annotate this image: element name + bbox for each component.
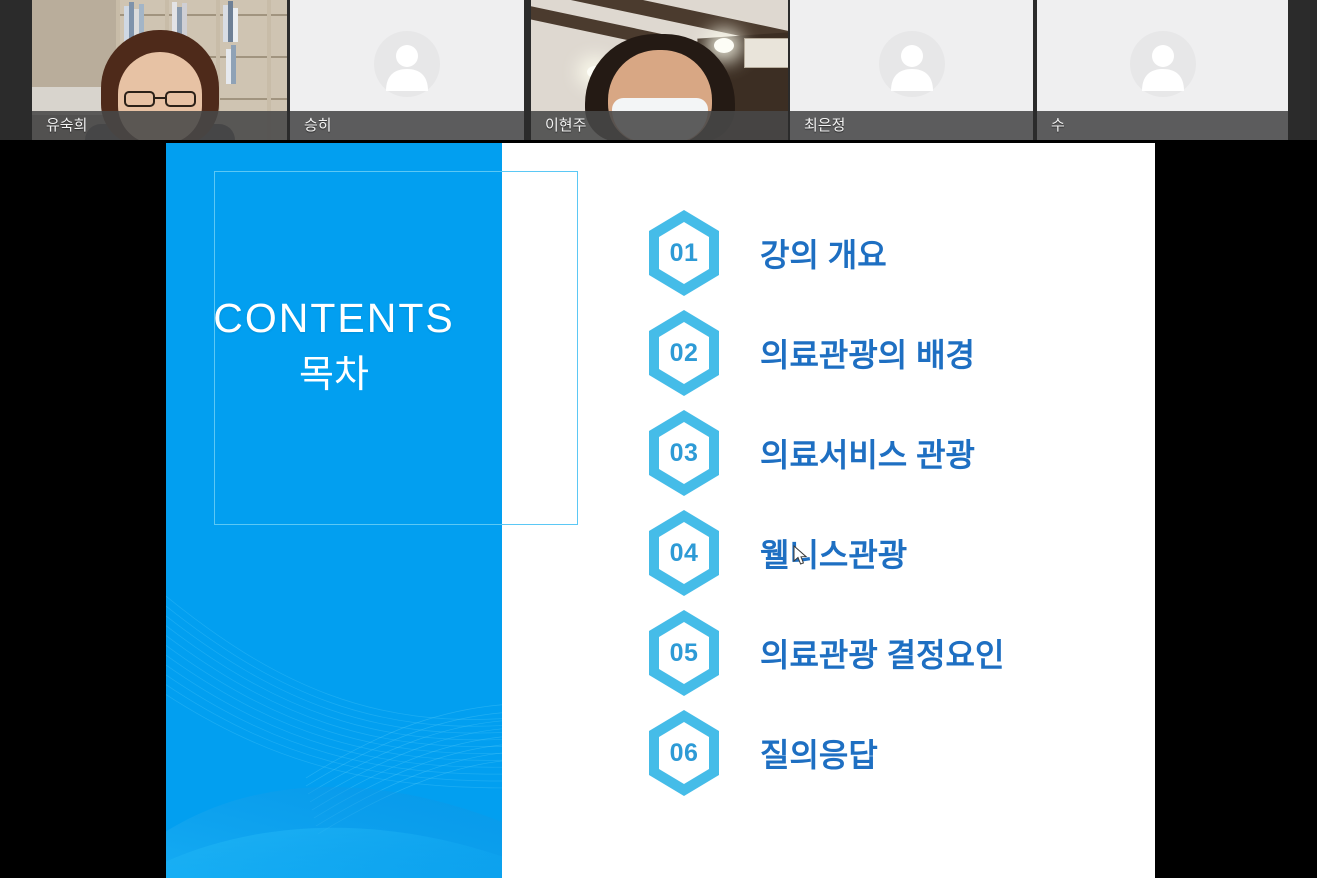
mouse-cursor-icon	[793, 545, 809, 567]
participant-name: 유숙희	[32, 111, 287, 140]
participant-tile[interactable]: 승히	[290, 0, 524, 140]
toc-item[interactable]: 02 의료관광의 배경	[644, 303, 1144, 403]
toc-item-number: 02	[644, 307, 724, 399]
toc-item-label: 질의응답	[760, 730, 878, 776]
person-avatar-icon	[879, 31, 945, 97]
participant-name: 수	[1037, 111, 1288, 140]
toc-item-number: 01	[644, 207, 724, 299]
participant-tile[interactable]: 수	[1037, 0, 1288, 140]
hexagon-badge: 01	[644, 207, 724, 299]
hexagon-badge: 03	[644, 407, 724, 499]
decorative-wave-pattern	[166, 578, 502, 878]
toc-item-number: 05	[644, 607, 724, 699]
toc-item-number: 04	[644, 507, 724, 599]
toc-item[interactable]: 01 강의 개요	[644, 203, 1144, 303]
screen-share-view: 유숙희 승히	[0, 0, 1317, 878]
participant-name: 승히	[290, 111, 524, 140]
hexagon-badge: 06	[644, 707, 724, 799]
toc-item-label: 의료관광 결정요인	[760, 630, 1004, 676]
person-avatar-icon	[1130, 31, 1196, 97]
toc-item-label: 강의 개요	[760, 230, 887, 276]
hexagon-badge: 04	[644, 507, 724, 599]
toc-item-label: 의료서비스 관광	[760, 430, 975, 476]
participant-tile[interactable]: 최은정	[790, 0, 1033, 140]
contents-panel-text: CONTENTS 목차	[166, 293, 502, 403]
toc-item[interactable]: 05 의료관광 결정요인	[644, 603, 1144, 703]
toc-item[interactable]: 06 질의응답	[644, 703, 1144, 803]
hexagon-badge: 02	[644, 307, 724, 399]
participant-tile[interactable]: 유숙희	[32, 0, 287, 140]
toc-item-label: 웰니스관광	[760, 530, 907, 576]
contents-title-ko: 목차	[166, 348, 502, 403]
shared-slide[interactable]: CONTENTS 목차 01 강의 개요	[166, 143, 1155, 878]
table-of-contents: 01 강의 개요 02 의료관광의 배경	[644, 203, 1144, 803]
contents-title-en: CONTENTS	[166, 293, 502, 344]
participant-filmstrip: 유숙희 승히	[0, 0, 1317, 140]
participant-name: 최은정	[790, 111, 1033, 140]
toc-item[interactable]: 04 웰니스관광	[644, 503, 1144, 603]
toc-item-number: 03	[644, 407, 724, 499]
toc-item[interactable]: 03 의료서비스 관광	[644, 403, 1144, 503]
eyeglasses	[124, 91, 196, 108]
participant-tile[interactable]: 이현주	[531, 0, 788, 140]
person-avatar-icon	[374, 31, 440, 97]
hexagon-badge: 05	[644, 607, 724, 699]
participant-name: 이현주	[531, 111, 788, 140]
toc-item-number: 06	[644, 707, 724, 799]
toc-item-label: 의료관광의 배경	[760, 330, 975, 376]
